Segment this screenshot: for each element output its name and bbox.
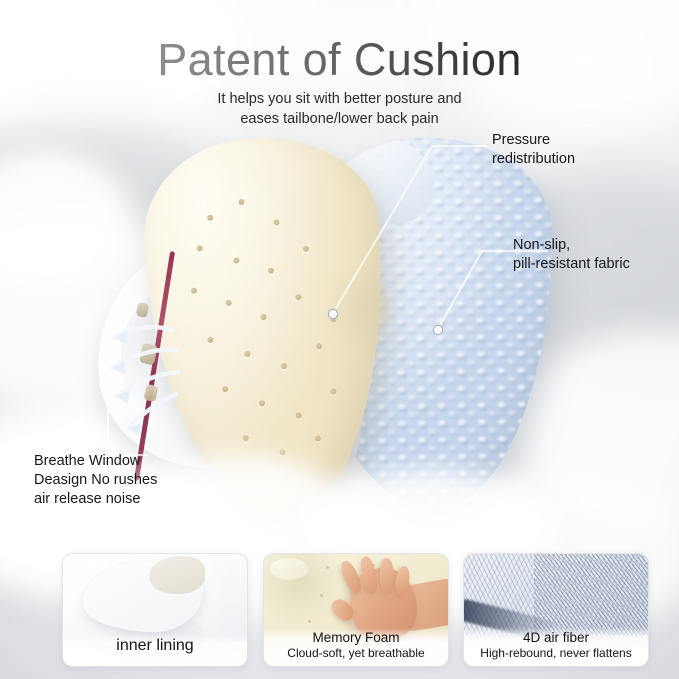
card-caption: Memory Foam Cloud-soft, yet breathable xyxy=(264,628,448,666)
callout-non-slip-fabric: Non-slip, pill-resistant fabric xyxy=(513,236,630,274)
card-title: 4D air fiber xyxy=(468,630,644,646)
callout-pressure-redistribution: Pressure redistribution xyxy=(492,131,575,169)
feature-card-row: inner lining xyxy=(0,553,679,667)
card-title: Memory Foam xyxy=(268,630,444,646)
feature-card-inner-lining[interactable]: inner lining xyxy=(62,553,248,667)
subtitle-line-2: eases tailbone/lower back pain xyxy=(0,109,679,129)
subtitle-line-1: It helps you sit with better posture and xyxy=(0,89,679,109)
feature-card-4d-air-fiber[interactable]: 4D air fiber High-rebound, never flatten… xyxy=(463,553,649,667)
page-subtitle: It helps you sit with better posture and… xyxy=(0,89,679,129)
card-caption: inner lining xyxy=(63,634,247,666)
card-subtitle: Cloud-soft, yet breathable xyxy=(268,646,444,660)
infographic-canvas: Patent of Cushion It helps you sit with … xyxy=(0,0,679,679)
page-title: Patent of Cushion xyxy=(0,33,679,87)
card-caption: 4D air fiber High-rebound, never flatten… xyxy=(464,628,648,666)
card-subtitle: High-rebound, never flattens xyxy=(468,646,644,660)
callout-breathe-window: Breathe Window Deasign No rushes air rel… xyxy=(34,452,157,509)
air-release-arrows xyxy=(94,310,204,440)
card-title: inner lining xyxy=(67,636,243,660)
feature-card-memory-foam[interactable]: Memory Foam Cloud-soft, yet breathable xyxy=(263,553,449,667)
